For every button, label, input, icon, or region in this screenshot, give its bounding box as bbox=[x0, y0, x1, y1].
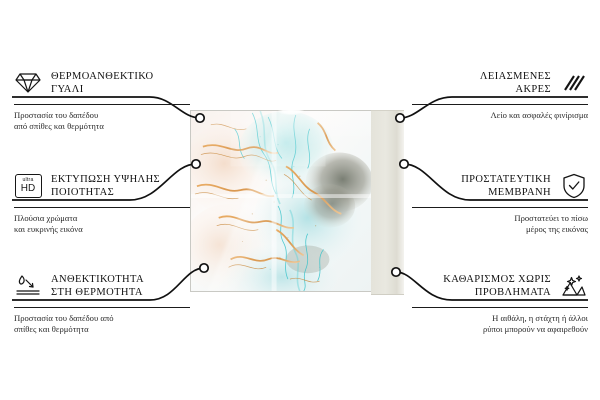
glass-panel-edge bbox=[371, 110, 404, 295]
feature-header: ΛΕΙΑΣΜΕΝΕΣ ΑΚΡΕΣ bbox=[412, 66, 588, 100]
feature-description: Η αιθάλη, η στάχτη ή άλλοι ρύποι μπορούν… bbox=[412, 313, 588, 335]
feature-divider bbox=[14, 207, 190, 208]
heat-resistance-icon bbox=[14, 272, 42, 300]
feature-divider bbox=[412, 307, 588, 308]
feature-title: ΘΕΡΜΟΑΝΘΕΚΤΙΚΟ ΓΥΑΛΙ bbox=[51, 70, 154, 96]
feature-high-quality-print: ultra HD ΕΚΤΥΠΩΣΗ ΥΨΗΛΗΣ ΠΟΙΟΤΗΤΑΣ Πλούσ… bbox=[14, 169, 190, 235]
feature-title: ΛΕΙΑΣΜΕΝΕΣ ΑΚΡΕΣ bbox=[480, 70, 551, 96]
feature-divider bbox=[412, 207, 588, 208]
feature-title: ΠΡΟΣΤΑΤΕΥΤΙΚΗ ΜΕΜΒΡΑΝΗ bbox=[461, 173, 551, 199]
polished-edges-icon bbox=[560, 69, 588, 97]
feature-divider bbox=[14, 104, 190, 105]
infographic-canvas: ΘΕΡΜΟΑΝΘΕΚΤΙΚΟ ΓΥΑΛΙ Προστασία του δαπέδ… bbox=[0, 0, 600, 400]
diamond-icon bbox=[14, 69, 42, 97]
glass-panel-artwork bbox=[190, 110, 372, 292]
feature-header: ΠΡΟΣΤΑΤΕΥΤΙΚΗ ΜΕΜΒΡΑΝΗ bbox=[412, 169, 588, 203]
feature-title: ΚΑΘΑΡΙΣΜΟΣ ΧΩΡΙΣ ΠΡΟΒΛΗΜΑΤΑ bbox=[443, 273, 551, 299]
feature-protective-film: ΠΡΟΣΤΑΤΕΥΤΙΚΗ ΜΕΜΒΡΑΝΗ Προστατεύει το πί… bbox=[412, 169, 588, 235]
feature-header: ΑΝΘΕΚΤΙΚΟΤΗΤΑ ΣΤΗ ΘΕΡΜΟΤΗΤΑ bbox=[14, 269, 190, 303]
feature-divider bbox=[412, 104, 588, 105]
feature-description: Προστασία του δαπέδου από σπίθες και θερ… bbox=[14, 313, 190, 335]
feature-heat-resistance: ΑΝΘΕΚΤΙΚΟΤΗΤΑ ΣΤΗ ΘΕΡΜΟΤΗΤΑ Προστασία το… bbox=[14, 269, 190, 335]
feature-title: ΑΝΘΕΚΤΙΚΟΤΗΤΑ ΣΤΗ ΘΕΡΜΟΤΗΤΑ bbox=[51, 273, 144, 299]
product-image bbox=[190, 110, 405, 292]
feature-easy-cleaning: ΚΑΘΑΡΙΣΜΟΣ ΧΩΡΙΣ ΠΡΟΒΛΗΜΑΤΑ Η αιθάλη, η … bbox=[412, 269, 588, 335]
feature-title: ΕΚΤΥΠΩΣΗ ΥΨΗΛΗΣ ΠΟΙΟΤΗΤΑΣ bbox=[51, 173, 160, 199]
feature-header: ΘΕΡΜΟΑΝΘΕΚΤΙΚΟ ΓΥΑΛΙ bbox=[14, 66, 190, 100]
feature-heat-resistant-glass: ΘΕΡΜΟΑΝΘΕΚΤΙΚΟ ΓΥΑΛΙ Προστασία του δαπέδ… bbox=[14, 66, 190, 132]
feature-divider bbox=[14, 307, 190, 308]
feature-polished-edges: ΛΕΙΑΣΜΕΝΕΣ ΑΚΡΕΣ Λείο και ασφαλές φινίρι… bbox=[412, 66, 588, 121]
feature-description: Πλούσια χρώματα και ευκρινής εικόνα bbox=[14, 213, 190, 235]
feature-header: ΚΑΘΑΡΙΣΜΟΣ ΧΩΡΙΣ ΠΡΟΒΛΗΜΑΤΑ bbox=[412, 269, 588, 303]
easy-clean-icon bbox=[560, 272, 588, 300]
feature-description: Προστατεύει το πίσω μέρος της εικόνας bbox=[412, 213, 588, 235]
ultra-hd-icon: ultra HD bbox=[14, 172, 42, 200]
feature-header: ultra HD ΕΚΤΥΠΩΣΗ ΥΨΗΛΗΣ ΠΟΙΟΤΗΤΑΣ bbox=[14, 169, 190, 203]
glass-highlight bbox=[278, 107, 304, 115]
feature-description: Προστασία του δαπέδου από σπίθες και θερ… bbox=[14, 110, 190, 132]
ultra-hd-bottom-label: HD bbox=[21, 184, 35, 194]
feature-description: Λείο και ασφαλές φινίρισμα bbox=[412, 110, 588, 121]
shield-check-icon bbox=[560, 172, 588, 200]
